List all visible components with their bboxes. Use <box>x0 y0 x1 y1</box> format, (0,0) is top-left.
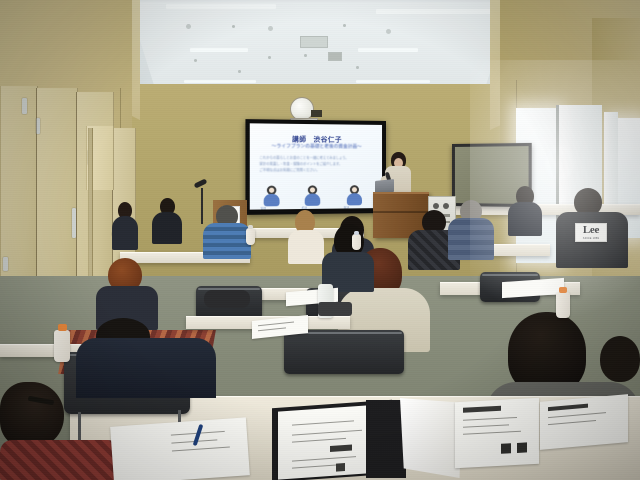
ceiling-panel <box>128 2 512 88</box>
slide-figure-2 <box>304 185 322 206</box>
slide-figure-1 <box>263 186 281 207</box>
projection-screen: 講師 渋谷仁子 ～ライフプランの基礎と老後の資金計画～ これからの暮らしとお金の… <box>245 119 386 215</box>
bottle-cap-right <box>559 287 567 293</box>
slide-illustrations: 質問 相談 解決 <box>256 179 376 206</box>
handout-center <box>455 398 539 468</box>
ceiling-vent <box>300 36 328 48</box>
handout-right <box>540 394 628 450</box>
slide-subtitle: ～ライフプランの基礎と老後の資金計画～ <box>250 143 382 150</box>
bottle-cap-back <box>248 225 253 229</box>
door-handle-1[interactable] <box>22 98 27 114</box>
binder-cover-center <box>366 400 406 478</box>
slide-figure-3 <box>346 185 363 205</box>
slide-figure-caption-3: 解決 <box>344 205 349 209</box>
microphone-stand <box>201 188 203 224</box>
slide-body-line-3: ご不明な点はお気軽にご質問ください。 <box>259 167 373 173</box>
lee-logo-patch: Lee SINCE 1889 <box>575 223 607 242</box>
slide-body: これからの暮らしとお金のことを一緒に考えてみましょう。 家計の見直し・年金・保険… <box>259 155 373 174</box>
lee-logo-text: Lee <box>583 225 599 236</box>
handout-page-lifted <box>400 398 462 478</box>
seminar-room-photo: 講師 渋谷仁子 ～ライフプランの基礎と老後の資金計画～ これからの暮らしとお金の… <box>0 0 640 480</box>
pouch-on-table <box>318 302 352 316</box>
drink-bottle-right[interactable] <box>556 292 570 318</box>
bag-on-table <box>204 290 250 308</box>
door-handle-2[interactable] <box>3 257 8 271</box>
drink-bottle-left[interactable] <box>54 330 70 362</box>
handout-being-written <box>110 417 250 480</box>
wall-speaker <box>311 110 322 117</box>
chair-front-center[interactable] <box>284 330 404 374</box>
lee-logo-subtext: SINCE 1889 <box>576 237 606 240</box>
slide-figure-caption-1: 質問 <box>260 206 266 209</box>
chair-leg-1 <box>78 412 81 440</box>
projected-slide: 講師 渋谷仁子 ～ライフプランの基礎と老後の資金計画～ これからの暮らしとお金の… <box>250 123 382 209</box>
bottle-cap-back-2 <box>354 231 359 235</box>
bottle-cap-left <box>58 324 67 331</box>
drink-bottle-back-2[interactable] <box>352 234 361 250</box>
drink-bottle-back[interactable] <box>246 228 255 245</box>
